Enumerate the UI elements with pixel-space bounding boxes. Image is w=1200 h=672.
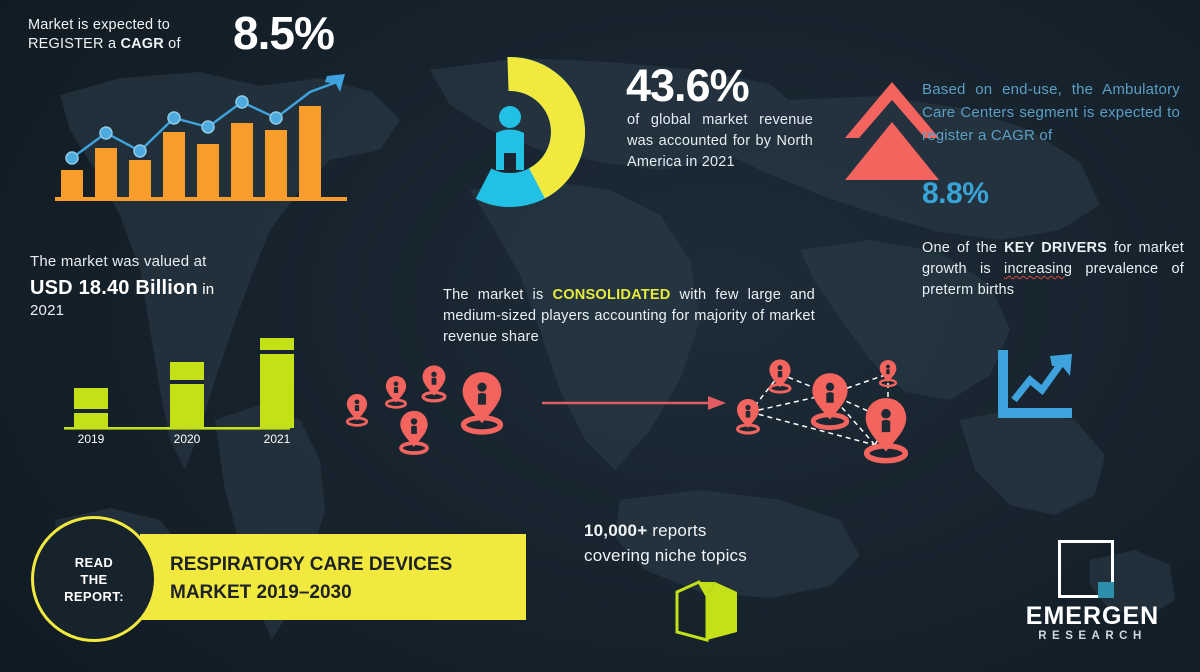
badge-line-3: REPORT: [64, 588, 124, 605]
ambulatory-cagr-value: 8.8% [922, 177, 988, 211]
report-title-line-1: RESPIRATORY CARE DEVICES [170, 551, 500, 579]
read-the-report-label: READ THE REPORT: [64, 554, 124, 605]
cagr-line-2: REGISTER a CAGR of [28, 35, 218, 54]
read-the-report-badge[interactable]: READ THE REPORT: [31, 516, 157, 642]
person-icon [496, 106, 524, 170]
pin-cluster-consolidated [737, 360, 906, 461]
green-chart-baseline [64, 427, 290, 430]
green-bars [74, 338, 294, 428]
report-title: RESPIRATORY CARE DEVICES MARKET 2019–203… [170, 551, 500, 607]
north-america-share-donut [425, 45, 595, 220]
consolidated-highlight: CONSOLIDATED [552, 287, 670, 303]
growth-chart-icon [992, 348, 1078, 420]
reports-count-line-2: covering niche topics [584, 543, 824, 568]
market-value-bar-chart: 2019 2020 2021 [60, 330, 310, 445]
reports-count-line-1: 10,000+ reports [584, 518, 824, 543]
cagr-value: 8.5% [233, 6, 334, 60]
logo-name: EMERGEN [1000, 602, 1185, 631]
report-title-line-2: MARKET 2019–2030 [170, 579, 500, 607]
transition-arrow-icon [542, 396, 726, 410]
green-chart-xtick-2021: 2021 [264, 432, 291, 445]
trend-arrow-icon [325, 74, 345, 92]
logo-accent-corner [1098, 582, 1114, 598]
market-value-amount: USD 18.40 Billion in [30, 277, 214, 300]
north-america-share-value: 43.6% [626, 60, 749, 112]
pin-cluster-fragmented [347, 365, 501, 453]
read-the-report-banner[interactable]: RESPIRATORY CARE DEVICES MARKET 2019–203… [140, 534, 526, 620]
emergen-research-logo: EMERGEN RESEARCH [1000, 540, 1185, 645]
green-chart-xtick-2020: 2020 [174, 432, 201, 445]
market-value-line-1: The market was valued at [30, 253, 207, 270]
north-america-share-text: of global market revenue was accounted f… [627, 110, 813, 173]
cagr-line-1: Market is expected to [28, 16, 218, 35]
consolidation-text: The market is CONSOLIDATED with few larg… [443, 285, 815, 348]
infographic-canvas: Market is expected to REGISTER a CAGR of… [0, 0, 1200, 672]
open-book-icon [669, 578, 745, 644]
key-drivers-text: One of the KEY DRIVERS for market growth… [922, 238, 1184, 301]
cagr-block: Market is expected to REGISTER a CAGR of… [28, 14, 368, 70]
growth-trend-chart [55, 70, 365, 205]
badge-line-2: THE [64, 571, 124, 588]
cagr-description: Market is expected to REGISTER a CAGR of [28, 16, 218, 54]
ambulatory-segment-text: Based on end-use, the Ambulatory Care Ce… [922, 78, 1180, 147]
logo-subtitle: RESEARCH [1000, 630, 1185, 642]
market-consolidation-pins [330, 350, 930, 470]
market-value-year: 2021 [30, 302, 64, 319]
misspelled-word: increasing [1004, 261, 1072, 277]
green-chart-xtick-2019: 2019 [78, 432, 105, 445]
badge-line-1: READ [64, 554, 124, 571]
chart-baseline [55, 197, 347, 201]
reports-count-text: 10,000+ reports covering niche topics [584, 518, 824, 568]
